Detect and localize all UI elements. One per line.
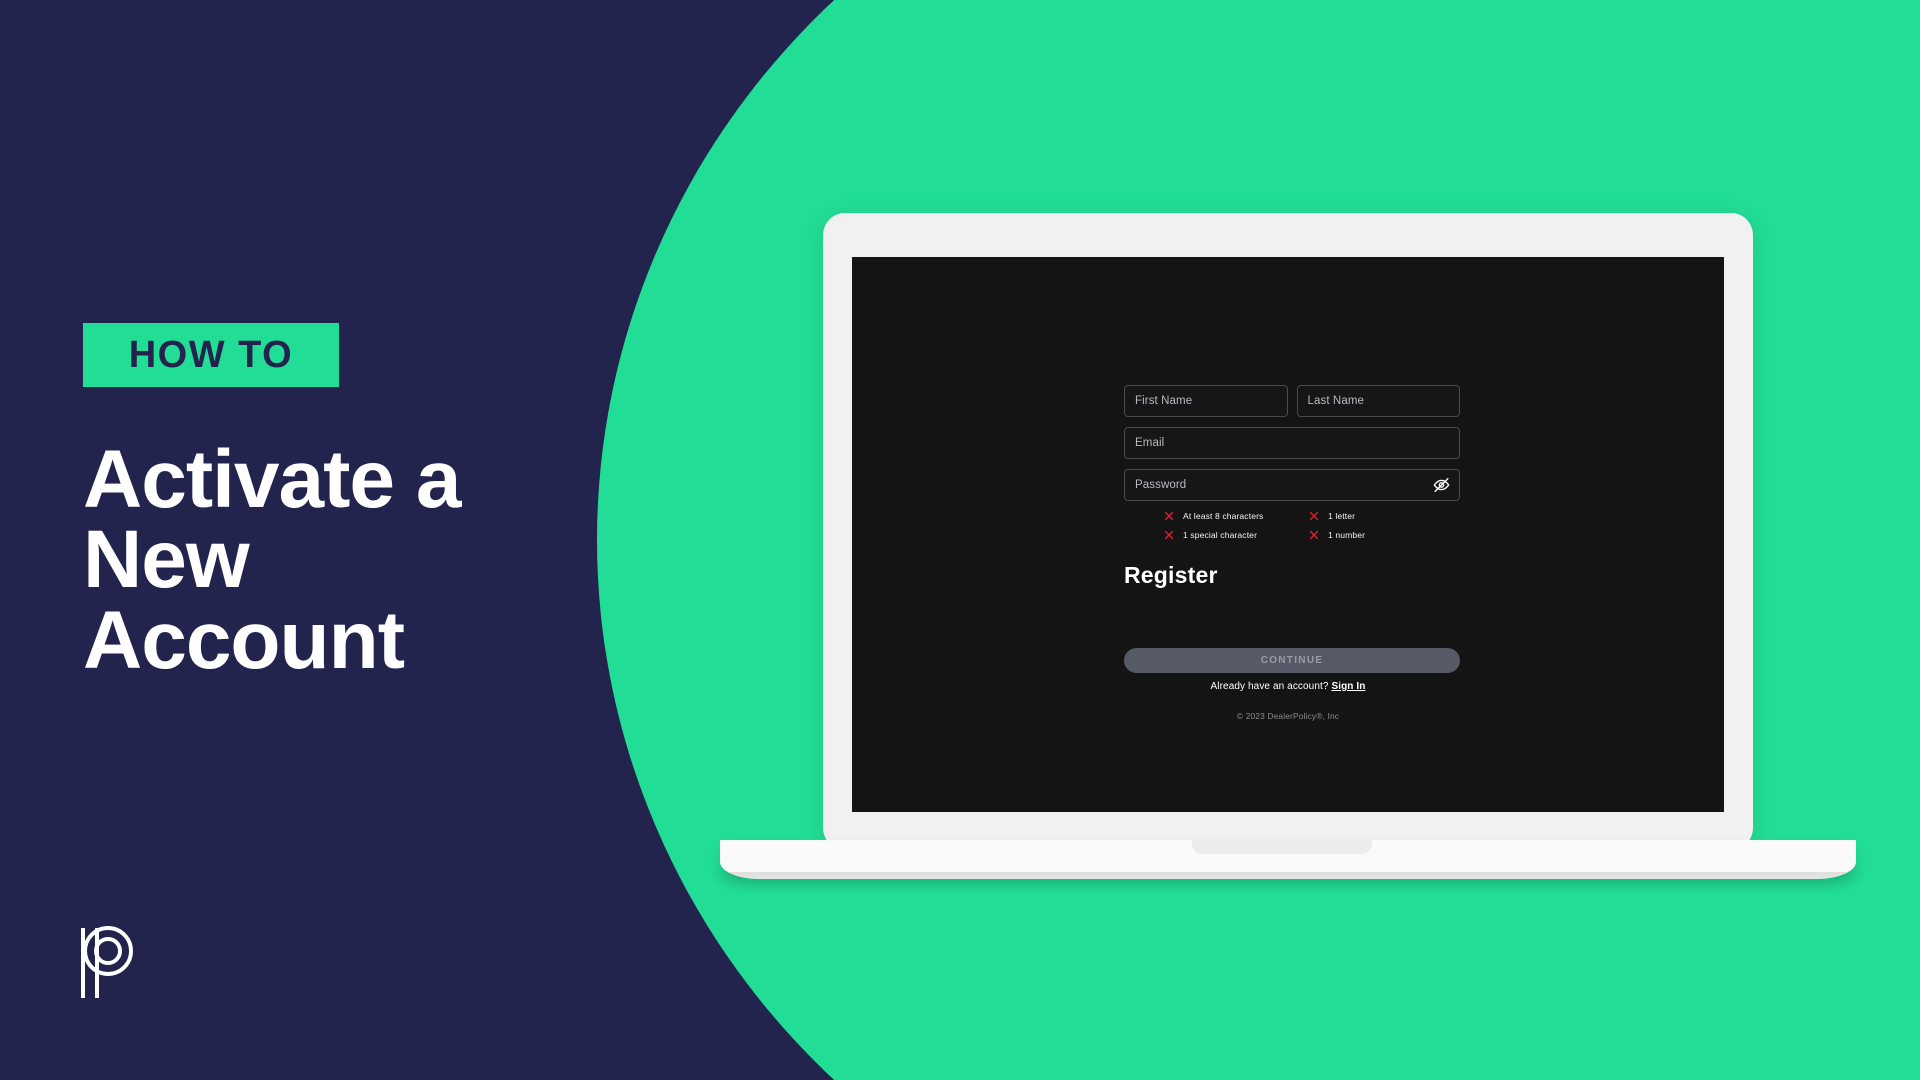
- password-rule: 1 letter: [1309, 511, 1454, 521]
- password-rule: 1 special character: [1164, 530, 1309, 540]
- password-rule-label: At least 8 characters: [1183, 511, 1263, 521]
- register-form: First Name Last Name Email Password: [1124, 385, 1460, 540]
- email-placeholder: Email: [1135, 437, 1164, 449]
- laptop-screen: Register First Name Last Name Email: [852, 257, 1724, 812]
- last-name-field[interactable]: Last Name: [1297, 385, 1461, 417]
- password-rule-label: 1 special character: [1183, 530, 1257, 540]
- dealerpolicy-p-logo: [78, 922, 144, 1004]
- password-rule: 1 number: [1309, 530, 1454, 540]
- email-field-row: Email: [1124, 427, 1460, 459]
- password-requirements: At least 8 characters 1 letter 1 special…: [1124, 511, 1460, 540]
- password-placeholder: Password: [1135, 479, 1186, 491]
- x-icon: [1164, 530, 1174, 540]
- continue-button[interactable]: CONTINUE: [1124, 648, 1460, 673]
- x-icon: [1309, 530, 1319, 540]
- eye-off-icon[interactable]: [1433, 477, 1450, 494]
- password-rule: At least 8 characters: [1164, 511, 1309, 521]
- password-rule-label: 1 number: [1328, 530, 1365, 540]
- slide-canvas: HOW TO Activate a New Account Register F…: [0, 0, 1920, 1080]
- first-name-placeholder: First Name: [1135, 395, 1192, 407]
- last-name-placeholder: Last Name: [1308, 395, 1365, 407]
- email-field[interactable]: Email: [1124, 427, 1460, 459]
- password-field-row: Password: [1124, 469, 1460, 501]
- signin-link[interactable]: Sign In: [1331, 681, 1365, 692]
- signin-prompt-label: Already have an account?: [1211, 681, 1329, 692]
- x-icon: [1164, 511, 1174, 521]
- page-title: Activate a New Account: [83, 440, 553, 681]
- signin-prompt-row: Already have an account? Sign In: [852, 681, 1724, 692]
- copyright-text: © 2023 DealerPolicy®, Inc: [852, 711, 1724, 721]
- how-to-badge-label: HOW TO: [129, 334, 294, 377]
- password-rule-label: 1 letter: [1328, 511, 1355, 521]
- name-field-row: First Name Last Name: [1124, 385, 1460, 417]
- how-to-badge: HOW TO: [83, 323, 339, 387]
- first-name-field[interactable]: First Name: [1124, 385, 1288, 417]
- laptop-base-notch: [1192, 840, 1372, 854]
- x-icon: [1309, 511, 1319, 521]
- register-heading: Register: [1124, 562, 1218, 589]
- password-field[interactable]: Password: [1124, 469, 1460, 501]
- left-title-panel: HOW TO Activate a New Account: [0, 0, 600, 1080]
- register-app: Register First Name Last Name Email: [852, 257, 1724, 812]
